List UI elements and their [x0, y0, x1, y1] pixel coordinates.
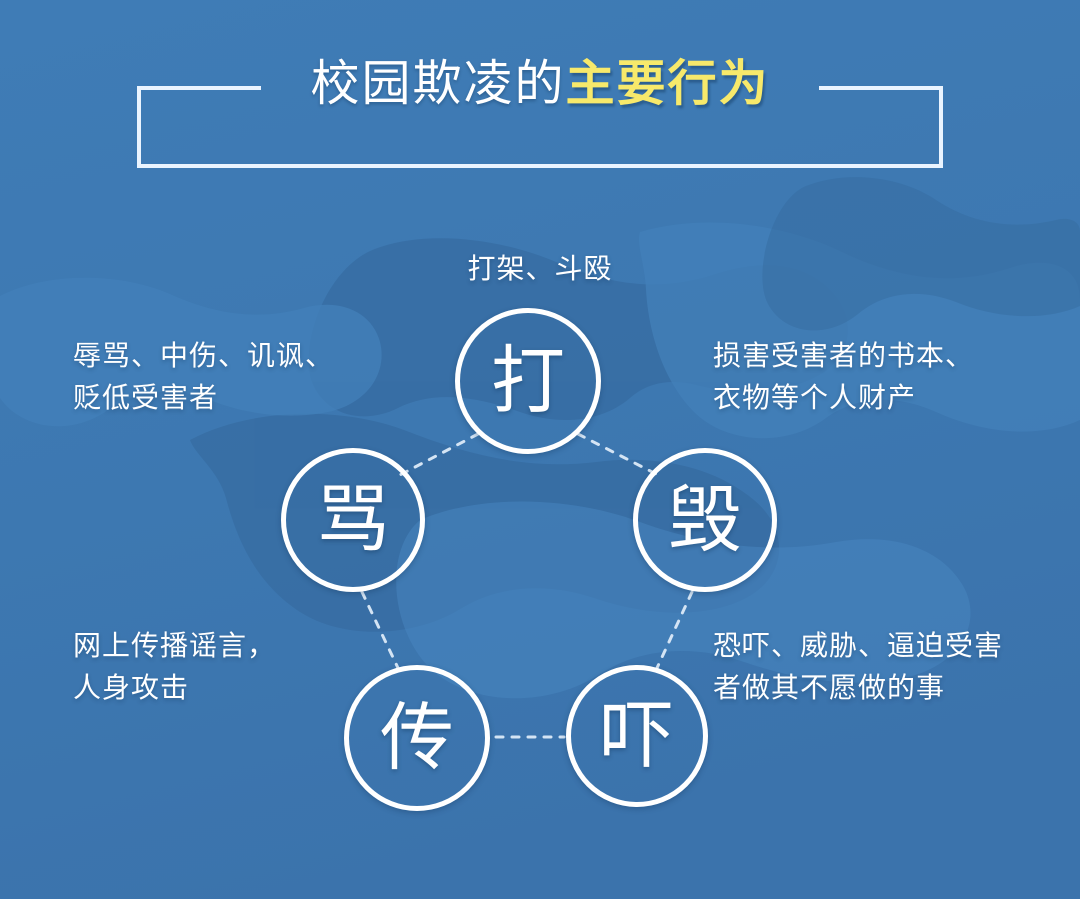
connector-hui-xia — [657, 592, 692, 668]
node-circle-da[interactable]: 打 — [455, 308, 601, 454]
poster-canvas: 校园欺凌的主要行为 打 骂 毁 — [0, 0, 1080, 899]
node-glyph-hui: 毁 — [668, 483, 742, 557]
caption-da: 打架、斗殴 — [0, 248, 1080, 290]
caption-chuan: 网上传播谣言， 人身攻击 — [73, 625, 393, 709]
node-circle-ma[interactable]: 骂 — [281, 448, 425, 592]
node-glyph-xia: 吓 — [600, 699, 674, 773]
node-circle-xia[interactable]: 吓 — [566, 665, 708, 807]
caption-hui: 损害受害者的书本、 衣物等个人财产 — [713, 335, 1053, 419]
bullying-behaviour-diagram: 打 骂 毁 传 吓 打架、斗殴 辱骂、中伤、讥讽、 贬低受害者 损害受害者的书本… — [0, 0, 1080, 899]
connector-da-ma — [398, 434, 478, 476]
caption-ma: 辱骂、中伤、讥讽、 贬低受害者 — [73, 335, 403, 419]
node-glyph-chuan: 传 — [380, 701, 454, 775]
caption-xia: 恐吓、威胁、逼迫受害 者做其不愿做的事 — [713, 625, 1058, 709]
node-glyph-ma: 骂 — [316, 483, 390, 557]
connector-da-hui — [578, 434, 660, 476]
node-circle-hui[interactable]: 毁 — [633, 448, 777, 592]
node-glyph-da: 打 — [491, 344, 565, 418]
